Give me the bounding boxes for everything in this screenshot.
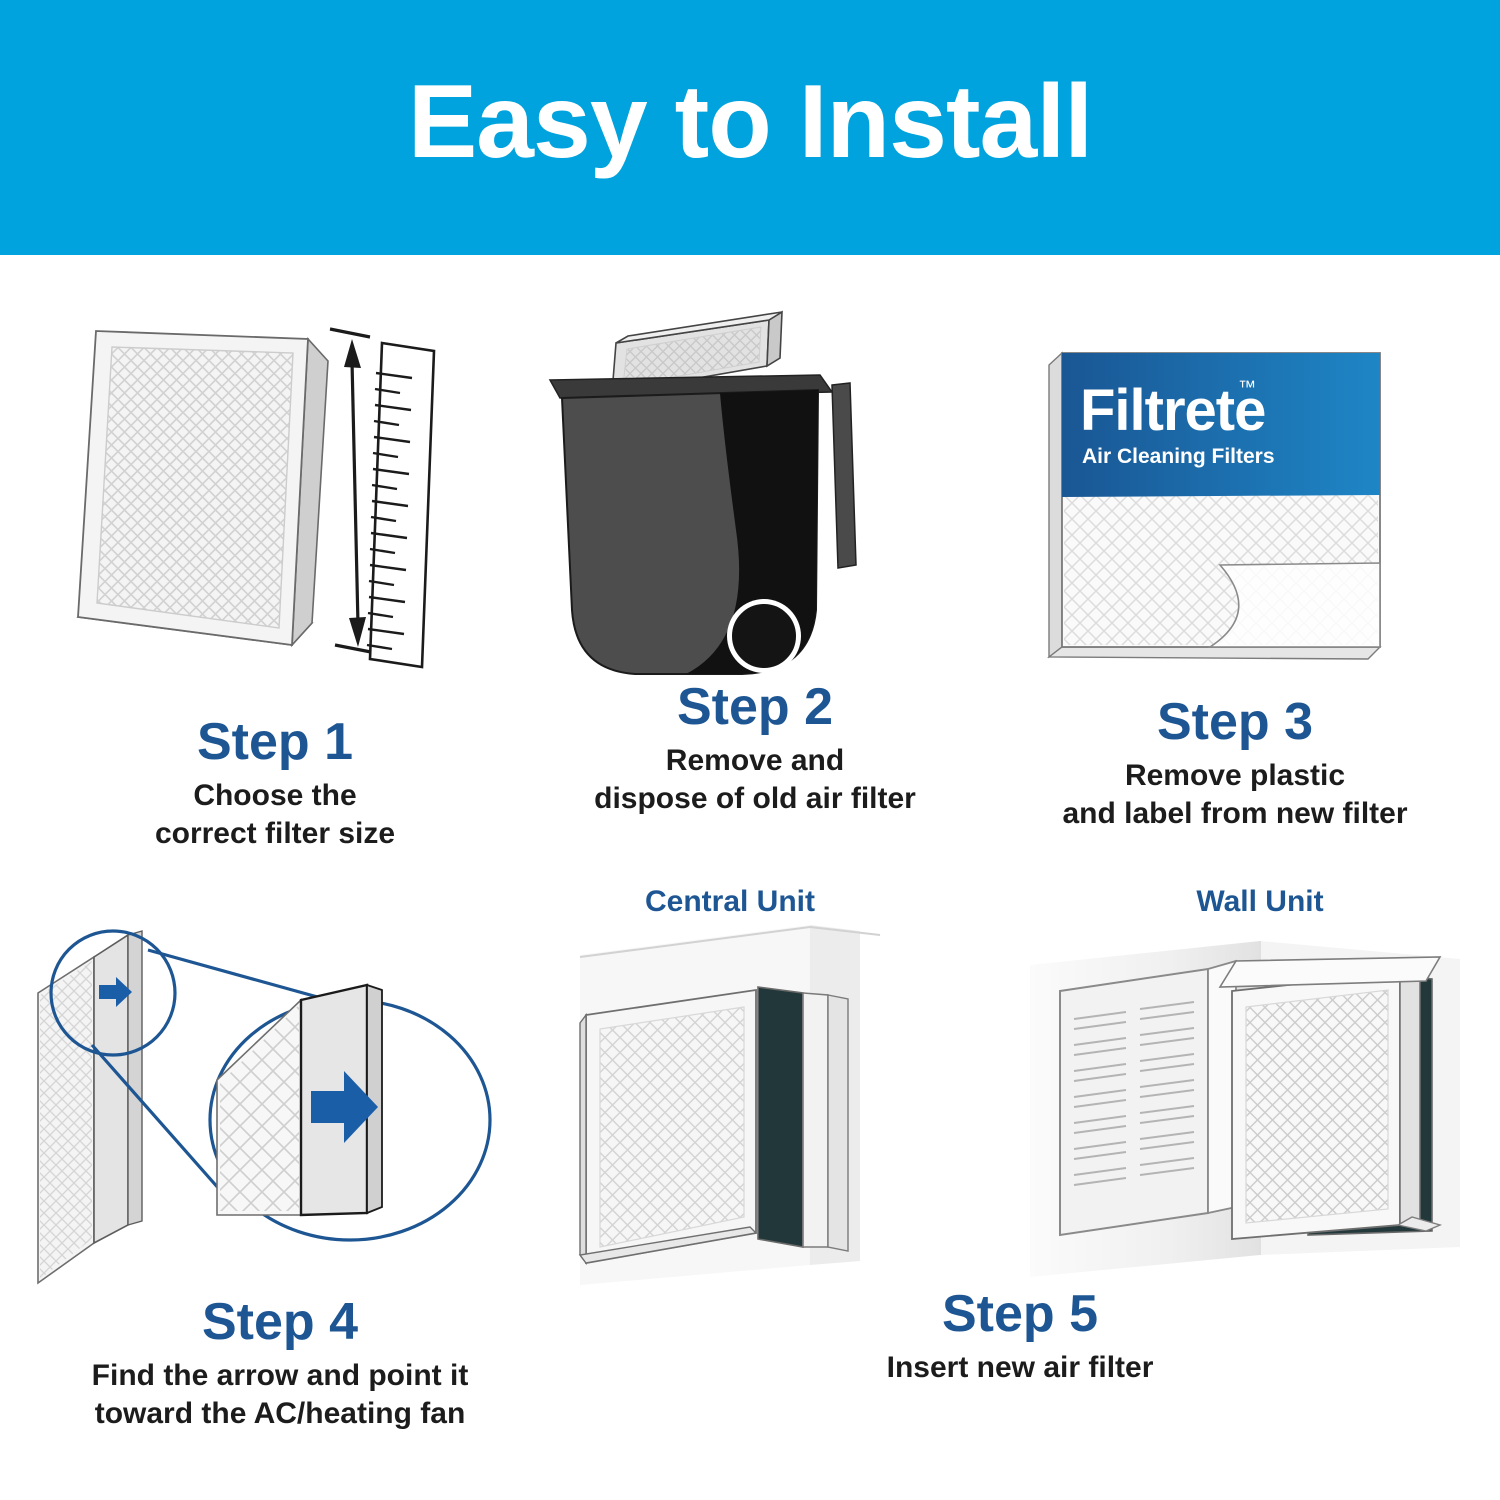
wall-unit-label: Wall Unit [1090,887,1430,917]
measure-arrow [330,329,376,653]
step-caption: Remove plastic and label from new filter [1062,757,1407,834]
step2-illustration [520,280,990,680]
step-title: Step 4 [202,1295,358,1350]
step-caption: Remove and dispose of old air filter [594,742,916,819]
step-title: Step 3 [1157,695,1313,750]
brand-tagline: Air Cleaning Filters [1082,445,1275,468]
filtrete-packaged-filter-icon: Filtrete ™ Air Cleaning Filters [1000,295,1470,695]
step-title: Step 1 [197,715,353,770]
step-title: Step 5 [942,1287,1098,1342]
filter-edge-view [38,931,142,1283]
step-caption: Find the arrow and point it toward the A… [92,1357,469,1434]
step-caption: Choose the correct filter size [155,777,395,854]
filter-with-ruler-icon [40,315,510,715]
trash-bin-with-filter-icon [520,280,990,715]
step-card-4: Step 4 Find the arrow and point it towar… [20,895,540,1433]
filter-edge-arrow-magnifier-icon [20,895,540,1295]
step-card-5: Central Unit Wall Unit Step 5 Insert new… [560,895,1480,1387]
step-card-3: Filtrete ™ Air Cleaning Filters Step 3 R… [1000,295,1470,833]
brand-trademark: ™ [1238,377,1256,397]
step3-illustration: Filtrete ™ Air Cleaning Filters [1000,295,1470,695]
infographic-page: Easy to Install [0,0,1500,1500]
step4-illustration [20,895,540,1295]
central-unit-label: Central Unit [590,887,870,917]
step1-illustration [40,315,510,715]
bin-handle [832,383,856,568]
central-slot [758,987,803,1247]
page-title: Easy to Install [0,0,1500,255]
bin-wheel [733,605,795,667]
step5-illustration: Central Unit Wall Unit [560,895,1480,1295]
steps-grid: Step 1 Choose the correct filter size [0,255,1500,1500]
step-card-2: Step 2 Remove and dispose of old air fil… [520,280,990,818]
louver-door [1060,961,1236,1235]
step-caption: Insert new air filter [887,1349,1154,1387]
wall-unit-group [1030,941,1460,1277]
ruler [367,343,434,667]
step-card-1: Step 1 Choose the correct filter size [40,315,510,853]
central-unit-group [580,925,880,1285]
central-and-wall-unit-icon [560,895,1480,1295]
